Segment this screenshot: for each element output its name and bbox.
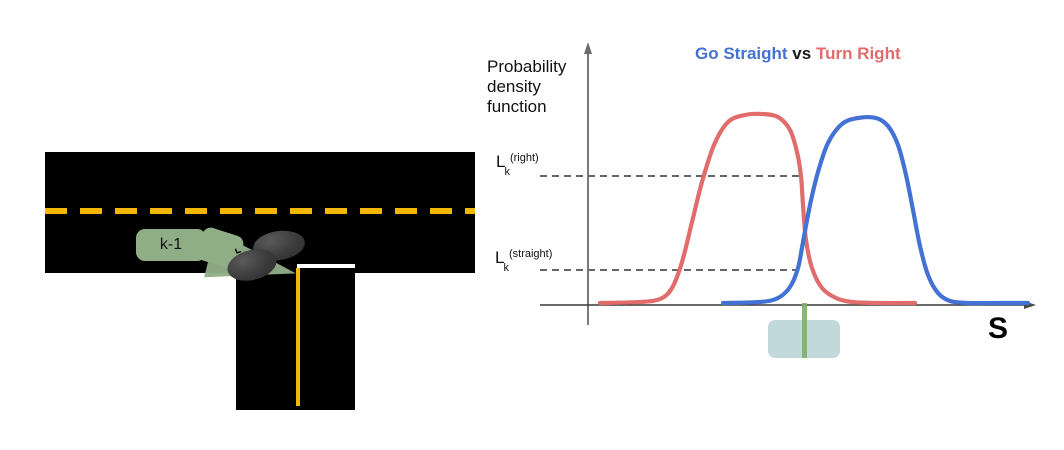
curve-turn-right [600,114,915,303]
legend-separator: vs [792,44,811,63]
chart-title: Go Straight vs Turn Right [695,44,901,64]
tick-label-l-k-right: Lk(right) [496,152,540,174]
tick-straight-sub: k [503,262,509,274]
decision-marker-line [802,303,807,358]
curve-go-straight [723,117,1028,303]
x-axis-label: S [988,312,1008,346]
tick-label-l-k-straight: Lk(straight) [495,248,553,270]
legend-go-straight: Go Straight [695,44,788,63]
legend-turn-right: Turn Right [816,44,901,63]
y-axis-label-line-2: density [487,77,587,97]
y-axis-label-line-3: function [487,97,587,117]
tick-straight-sup: (straight) [509,248,552,260]
y-axis-label: Probability density function [487,57,587,117]
y-axis-arrow-icon [584,42,592,54]
y-axis-label-line-1: Probability [487,57,587,77]
tick-right-sup: (right) [510,152,539,164]
pdf-comparison-chart: Probability density function Lk(right) L… [0,0,1064,450]
figure-canvas: k-1 ⌄ Probability density function [0,0,1064,450]
tick-right-sub: k [504,166,510,178]
